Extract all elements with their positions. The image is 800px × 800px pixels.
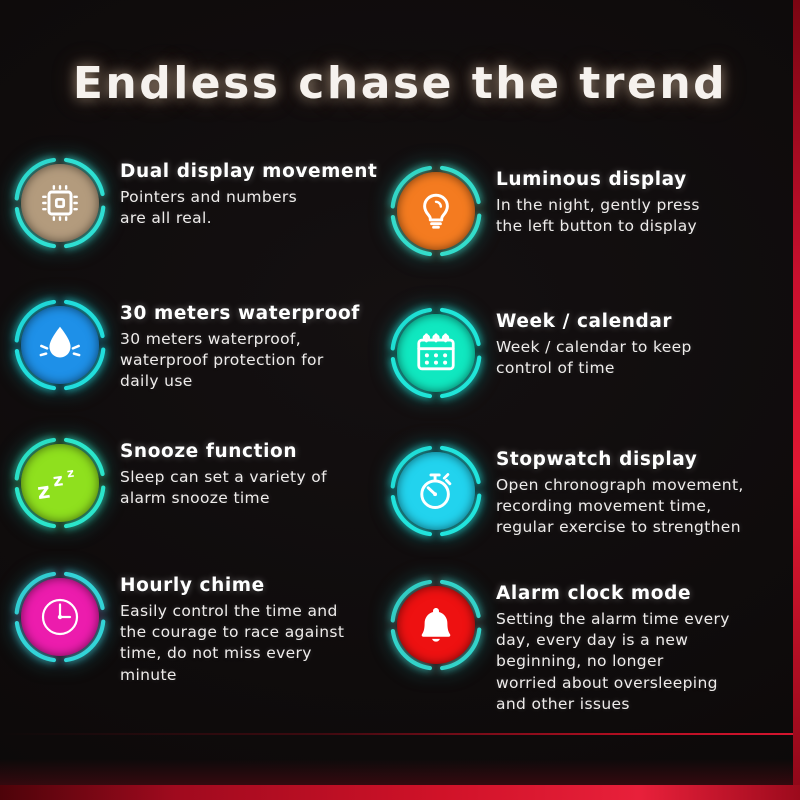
feature-icon-badge: z z z: [12, 435, 108, 531]
feature-text-block: Snooze functionSleep can set a variety o…: [120, 435, 327, 509]
feature-text-block: Alarm clock modeSetting the alarm time e…: [496, 577, 730, 715]
page-title: Endless chase the trend: [0, 58, 800, 109]
feature-item: Luminous displayIn the night, gently pre…: [388, 163, 700, 259]
feature-description: Sleep can set a variety of alarm snooze …: [120, 467, 327, 509]
feature-text-block: 30 meters waterproof30 meters waterproof…: [120, 297, 360, 393]
feature-item: Stopwatch displayOpen chronograph moveme…: [388, 443, 744, 539]
alarm-bell-icon: [397, 586, 475, 664]
feature-item: Dual display movementPointers and number…: [12, 155, 377, 251]
feature-item: Hourly chimeEasily control the time and …: [12, 569, 344, 686]
divider-hairline: [0, 733, 800, 735]
svg-text:z: z: [66, 466, 75, 481]
sleep-zzz-icon: z z z: [21, 444, 99, 522]
feature-description: Week / calendar to keep control of time: [496, 337, 692, 379]
feature-description: Setting the alarm time every day, every …: [496, 609, 730, 714]
clock-icon: [21, 578, 99, 656]
svg-text:z: z: [36, 479, 52, 504]
feature-text-block: Week / calendarWeek / calendar to keep c…: [496, 305, 692, 379]
accent-stripe-bottom: [0, 785, 800, 800]
accent-stripe-right: [793, 0, 800, 800]
svg-text:z: z: [52, 470, 65, 491]
calendar-icon: [397, 314, 475, 392]
feature-icon-badge: [388, 163, 484, 259]
feature-title: Snooze function: [120, 441, 327, 462]
feature-item: Week / calendarWeek / calendar to keep c…: [388, 305, 692, 401]
feature-text-block: Dual display movementPointers and number…: [120, 155, 377, 229]
feature-icon-badge: [388, 577, 484, 673]
bottom-glow: [0, 759, 800, 785]
feature-icon-badge: [12, 569, 108, 665]
feature-icon-badge: [388, 443, 484, 539]
feature-description: Open chronograph movement, recording mov…: [496, 475, 744, 538]
feature-title: Stopwatch display: [496, 449, 744, 470]
feature-item: Alarm clock modeSetting the alarm time e…: [388, 577, 730, 715]
cpu-chip-icon: [21, 164, 99, 242]
feature-item: z z z Snooze functionSleep can set a var…: [12, 435, 327, 531]
feature-description: Easily control the time and the courage …: [120, 601, 344, 685]
feature-text-block: Hourly chimeEasily control the time and …: [120, 569, 344, 686]
feature-icon-badge: [12, 297, 108, 393]
feature-icon-badge: [388, 305, 484, 401]
water-drop-icon: [21, 306, 99, 384]
feature-title: Alarm clock mode: [496, 583, 730, 604]
feature-title: 30 meters waterproof: [120, 303, 360, 324]
lightbulb-icon: [397, 172, 475, 250]
feature-item: 30 meters waterproof30 meters waterproof…: [12, 297, 360, 393]
feature-description: In the night, gently press the left butt…: [496, 195, 700, 237]
feature-description: Pointers and numbers are all real.: [120, 187, 377, 229]
feature-title: Luminous display: [496, 169, 700, 190]
feature-title: Hourly chime: [120, 575, 344, 596]
feature-text-block: Stopwatch displayOpen chronograph moveme…: [496, 443, 744, 539]
stopwatch-icon: [397, 452, 475, 530]
feature-icon-badge: [12, 155, 108, 251]
feature-text-block: Luminous displayIn the night, gently pre…: [496, 163, 700, 237]
feature-description: 30 meters waterproof, waterproof protect…: [120, 329, 360, 392]
feature-title: Dual display movement: [120, 161, 377, 182]
feature-title: Week / calendar: [496, 311, 692, 332]
promo-banner: Endless chase the trend Dual display mov…: [0, 0, 800, 800]
